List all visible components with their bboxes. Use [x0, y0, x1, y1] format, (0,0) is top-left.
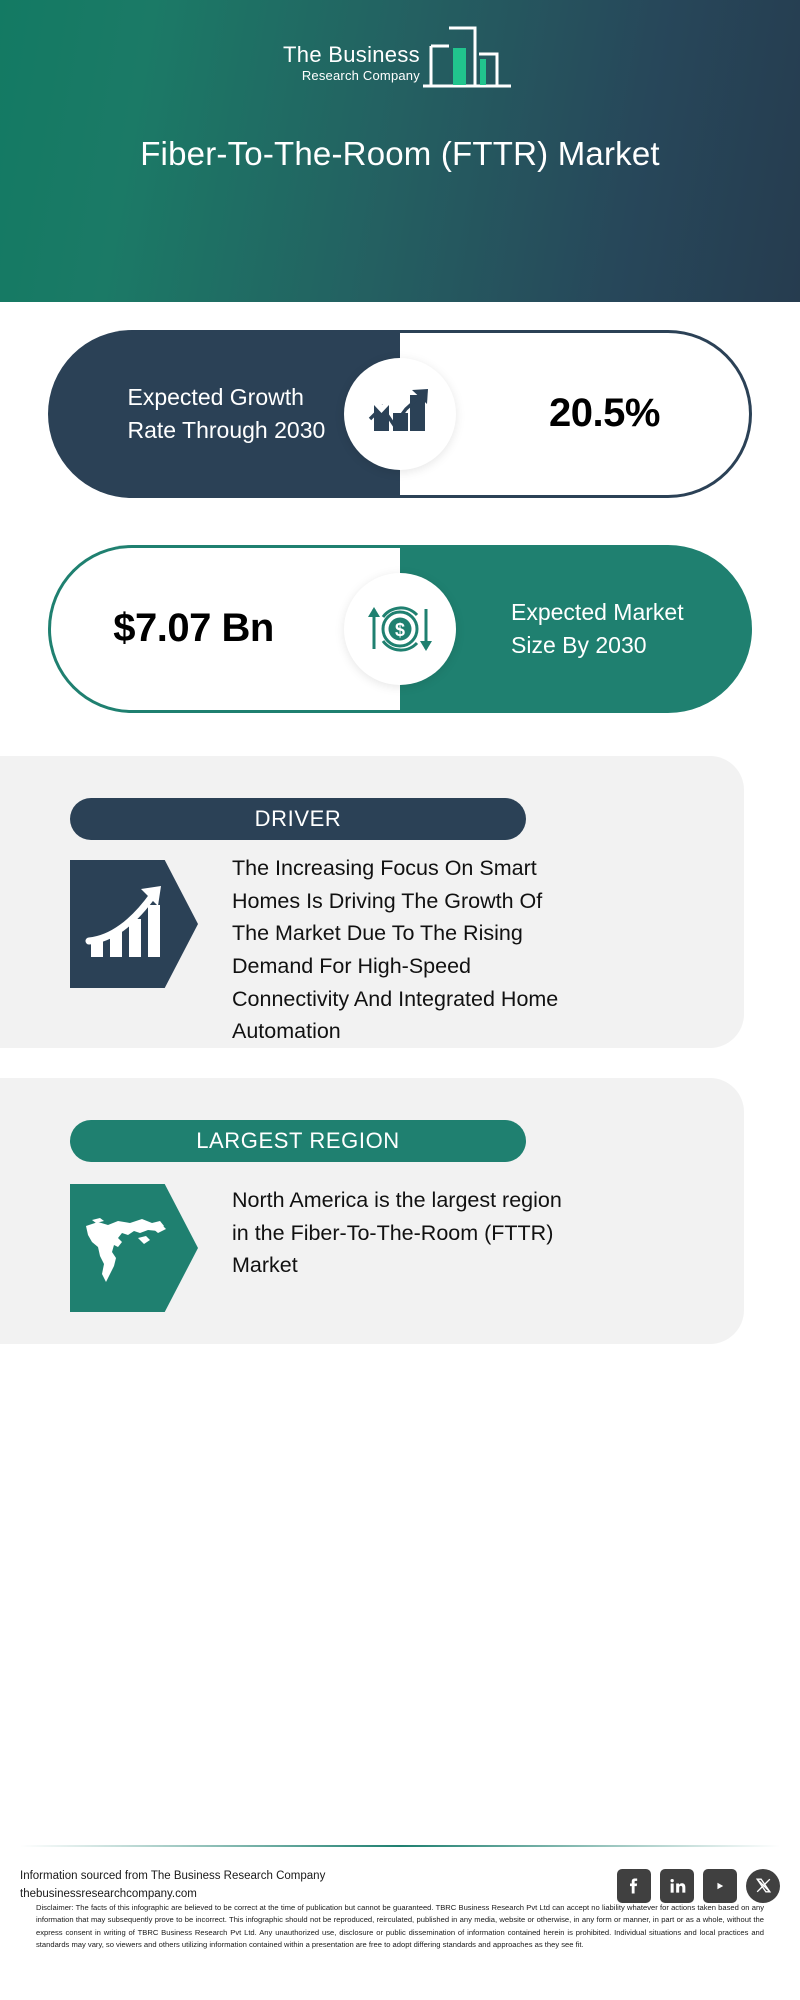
driver-body: The Increasing Focus On Smart Homes Is D… — [70, 860, 562, 1048]
social-links — [617, 1869, 780, 1903]
driver-pill: DRIVER — [70, 798, 526, 840]
driver-text: The Increasing Focus On Smart Homes Is D… — [232, 852, 562, 1048]
north-america-map-icon — [70, 1184, 198, 1312]
region-body: North America is the largest region in t… — [70, 1184, 562, 1312]
region-pill-label: LARGEST REGION — [196, 1128, 400, 1154]
stat-card-growth-rate: Expected Growth Rate Through 2030 20.5% — [48, 330, 752, 498]
driver-pill-label: DRIVER — [255, 806, 342, 832]
header-banner: The Business Research Company Fiber-To-T… — [0, 0, 800, 302]
logo-line-1: The Business — [283, 44, 420, 66]
page-title: Fiber-To-The-Room (FTTR) Market — [80, 132, 720, 176]
company-logo: The Business Research Company — [283, 22, 517, 90]
driver-panel: DRIVER The Increasing Focus On Smart Hom… — [0, 756, 744, 1048]
stat-card-market-size: $7.07 Bn Expected Market Size By 2030 $ — [48, 545, 752, 713]
disclaimer-text: Disclaimer: The facts of this infographi… — [36, 1902, 764, 1951]
logo-bar-chart-icon — [421, 24, 517, 90]
stat-value-text: 20.5% — [549, 388, 660, 439]
region-text: North America is the largest region in t… — [232, 1184, 562, 1282]
logo-wordmark: The Business Research Company — [283, 44, 420, 90]
footer-source: Information sourced from The Business Re… — [20, 1868, 325, 1904]
growth-chart-icon — [344, 358, 456, 470]
growth-arrow-icon — [70, 860, 198, 988]
stat-label-text: Expected Growth Rate Through 2030 — [128, 381, 343, 446]
region-pill: LARGEST REGION — [70, 1120, 526, 1162]
youtube-icon[interactable] — [703, 1869, 737, 1903]
stat-label-text: Expected Market Size By 2030 — [511, 596, 711, 661]
footer-divider — [20, 1845, 780, 1847]
svg-text:$: $ — [395, 620, 405, 640]
footer-source-line-2[interactable]: thebusinessresearchcompany.com — [20, 1886, 325, 1904]
facebook-icon[interactable] — [617, 1869, 651, 1903]
x-twitter-icon[interactable] — [746, 1869, 780, 1903]
footer: Information sourced from The Business Re… — [0, 1868, 800, 1904]
region-panel: LARGEST REGION North America is the larg… — [0, 1078, 744, 1344]
logo-line-2: Research Company — [302, 69, 420, 82]
stat-value-text: $7.07 Bn — [109, 603, 279, 654]
footer-source-line-1: Information sourced from The Business Re… — [20, 1868, 325, 1886]
linkedin-icon[interactable] — [660, 1869, 694, 1903]
dollar-cycle-icon: $ — [344, 573, 456, 685]
